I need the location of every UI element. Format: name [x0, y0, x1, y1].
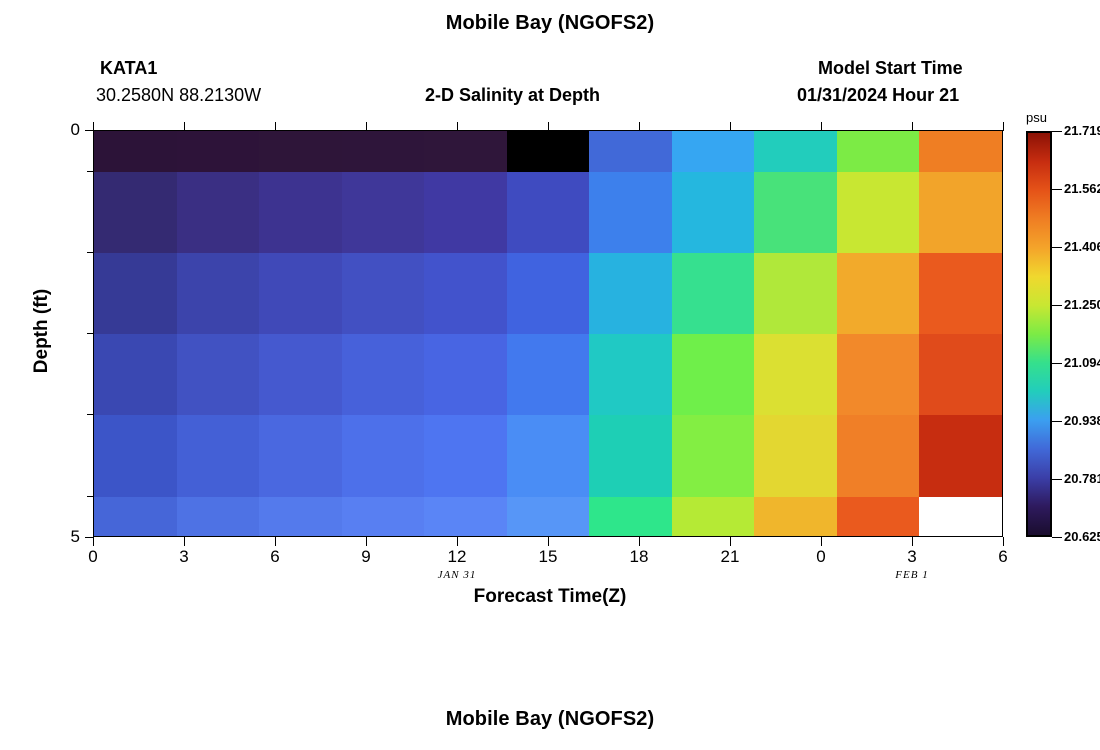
heatmap-cell [837, 131, 920, 172]
heatmap-cell [259, 172, 342, 253]
y-tick-minor [87, 171, 94, 172]
heatmap-cell [424, 172, 507, 253]
colorbar-tick [1052, 131, 1062, 132]
colorbar-tick-label: 21.562 [1064, 181, 1100, 196]
x-tick-top [275, 122, 276, 131]
x-tick [821, 537, 822, 546]
heatmap-cell [342, 253, 425, 334]
heatmap-cell [342, 415, 425, 497]
colorbar-tick-label: 21.094 [1064, 355, 1100, 370]
x-axis-date-label: JAN 31 [402, 569, 512, 581]
x-tick-label: 6 [245, 547, 305, 567]
heatmap-cell-nodata [507, 131, 590, 172]
x-tick [1003, 537, 1004, 546]
x-tick-label: 18 [609, 547, 669, 567]
heatmap-cell [94, 253, 177, 334]
colorbar-unit-label: psu [1026, 110, 1047, 125]
heatmap-cell [94, 497, 177, 537]
heatmap-cell [177, 131, 260, 172]
heatmap-cell [342, 497, 425, 537]
bottom-title: Mobile Bay (NGOFS2) [0, 708, 1100, 731]
x-tick-top [912, 122, 913, 131]
x-tick-top [184, 122, 185, 131]
x-tick-label: 3 [154, 547, 214, 567]
colorbar-tick-label: 20.938 [1064, 413, 1100, 428]
heatmap-cell [177, 415, 260, 497]
colorbar-tick [1052, 247, 1062, 248]
colorbar-tick-label: 21.250 [1064, 297, 1100, 312]
colorbar-tick [1052, 363, 1062, 364]
heatmap-row [94, 253, 1002, 334]
heatmap-cell [919, 334, 1002, 415]
heatmap-cell [589, 131, 672, 172]
heatmap-cell [259, 334, 342, 415]
heatmap-cell [754, 172, 837, 253]
heatmap-plot [93, 130, 1003, 537]
heatmap-row [94, 334, 1002, 415]
heatmap-cell [94, 172, 177, 253]
heatmap-cell [507, 415, 590, 497]
heatmap-cell [507, 253, 590, 334]
colorbar-tick [1052, 421, 1062, 422]
colorbar-tick-label: 21.719 [1064, 123, 1100, 138]
heatmap-row [94, 415, 1002, 497]
heatmap-cell [424, 131, 507, 172]
heatmap-cell [919, 253, 1002, 334]
heatmap-cell [259, 253, 342, 334]
x-tick-label: 21 [700, 547, 760, 567]
heatmap-cell [424, 415, 507, 497]
heatmap-cell [589, 172, 672, 253]
heatmap-cell [754, 497, 837, 537]
x-tick [366, 537, 367, 546]
x-tick [912, 537, 913, 546]
x-tick-top [457, 122, 458, 131]
heatmap-cell [672, 334, 755, 415]
x-tick-top [730, 122, 731, 131]
heatmap-cell [589, 415, 672, 497]
x-tick-top [639, 122, 640, 131]
heatmap-cell [177, 334, 260, 415]
x-tick [275, 537, 276, 546]
station-id: KATA1 [100, 58, 157, 79]
heatmap-cell [589, 253, 672, 334]
heatmap-cell [754, 131, 837, 172]
colorbar-tick [1052, 537, 1062, 538]
heatmap-row [94, 172, 1002, 253]
colorbar-gradient [1028, 133, 1050, 535]
heatmap-cell [837, 415, 920, 497]
heatmap-cell [424, 253, 507, 334]
colorbar-tick-label: 20.781 [1064, 471, 1100, 486]
heatmap-cell [424, 497, 507, 537]
x-tick-label: 6 [973, 547, 1033, 567]
x-tick-top [821, 122, 822, 131]
colorbar-tick [1052, 189, 1062, 190]
x-tick [93, 537, 94, 546]
heatmap-cell [94, 131, 177, 172]
x-tick-top [548, 122, 549, 131]
model-start-time-label: Model Start Time [818, 58, 963, 79]
heatmap-cell [672, 131, 755, 172]
heatmap-cell [507, 172, 590, 253]
x-tick-label: 0 [791, 547, 851, 567]
heatmap-cell [177, 497, 260, 537]
y-tick-minor [87, 414, 94, 415]
colorbar-tick-label: 21.406 [1064, 239, 1100, 254]
x-tick-top [93, 122, 94, 131]
heatmap-cell [754, 415, 837, 497]
heatmap-cell [94, 334, 177, 415]
y-axis-title: Depth (ft) [31, 266, 53, 396]
heatmap-cell-nodata [919, 497, 1002, 537]
colorbar [1026, 131, 1052, 537]
heatmap-cell [177, 172, 260, 253]
y-tick-minor [87, 252, 94, 253]
heatmap-cell [342, 131, 425, 172]
x-tick [730, 537, 731, 546]
heatmap-row [94, 131, 1002, 172]
heatmap-cell [672, 497, 755, 537]
heatmap-cell [919, 172, 1002, 253]
x-tick-label: 15 [518, 547, 578, 567]
y-tick-minor [87, 496, 94, 497]
x-tick-label: 3 [882, 547, 942, 567]
heatmap-cell [754, 334, 837, 415]
station-coordinates: 30.2580N 88.2130W [96, 85, 261, 106]
colorbar-tick [1052, 305, 1062, 306]
heatmap-cell [837, 497, 920, 537]
heatmap-cell [837, 172, 920, 253]
x-tick [548, 537, 549, 546]
heatmap-row [94, 497, 1002, 537]
heatmap-cell [259, 131, 342, 172]
heatmap-cell [589, 334, 672, 415]
x-tick [184, 537, 185, 546]
heatmap-cell [342, 334, 425, 415]
heatmap-cell [754, 253, 837, 334]
heatmap-cell [672, 253, 755, 334]
heatmap-cell [177, 253, 260, 334]
heatmap-cell [837, 253, 920, 334]
x-tick-top [1003, 122, 1004, 131]
heatmap-cell [259, 415, 342, 497]
colorbar-tick [1052, 479, 1062, 480]
heatmap-cell [837, 334, 920, 415]
heatmap-cell [589, 497, 672, 537]
heatmap-cell [507, 497, 590, 537]
y-tick-label-0: 0 [40, 120, 80, 140]
x-axis-title: Forecast Time(Z) [0, 586, 1100, 608]
x-tick-top [366, 122, 367, 131]
page-title: Mobile Bay (NGOFS2) [0, 12, 1100, 35]
heatmap-cell [919, 131, 1002, 172]
x-tick [457, 537, 458, 546]
x-tick [639, 537, 640, 546]
heatmap-cell [672, 172, 755, 253]
y-tick-label-1: 5 [40, 527, 80, 547]
heatmap-cell [259, 497, 342, 537]
x-axis-date-label: FEB 1 [857, 569, 967, 581]
heatmap-cell [424, 334, 507, 415]
model-start-time-value: 01/31/2024 Hour 21 [797, 85, 959, 106]
x-tick-label: 9 [336, 547, 396, 567]
heatmap-cell [507, 334, 590, 415]
heatmap-cell [94, 415, 177, 497]
heatmap-cell [342, 172, 425, 253]
colorbar-tick-label: 20.625 [1064, 529, 1100, 544]
heatmap-cell [919, 415, 1002, 497]
x-tick-label: 0 [63, 547, 123, 567]
plot-subtitle: 2-D Salinity at Depth [425, 85, 600, 106]
heatmap-cell [672, 415, 755, 497]
x-tick-label: 12 [427, 547, 487, 567]
y-tick-minor [87, 333, 94, 334]
